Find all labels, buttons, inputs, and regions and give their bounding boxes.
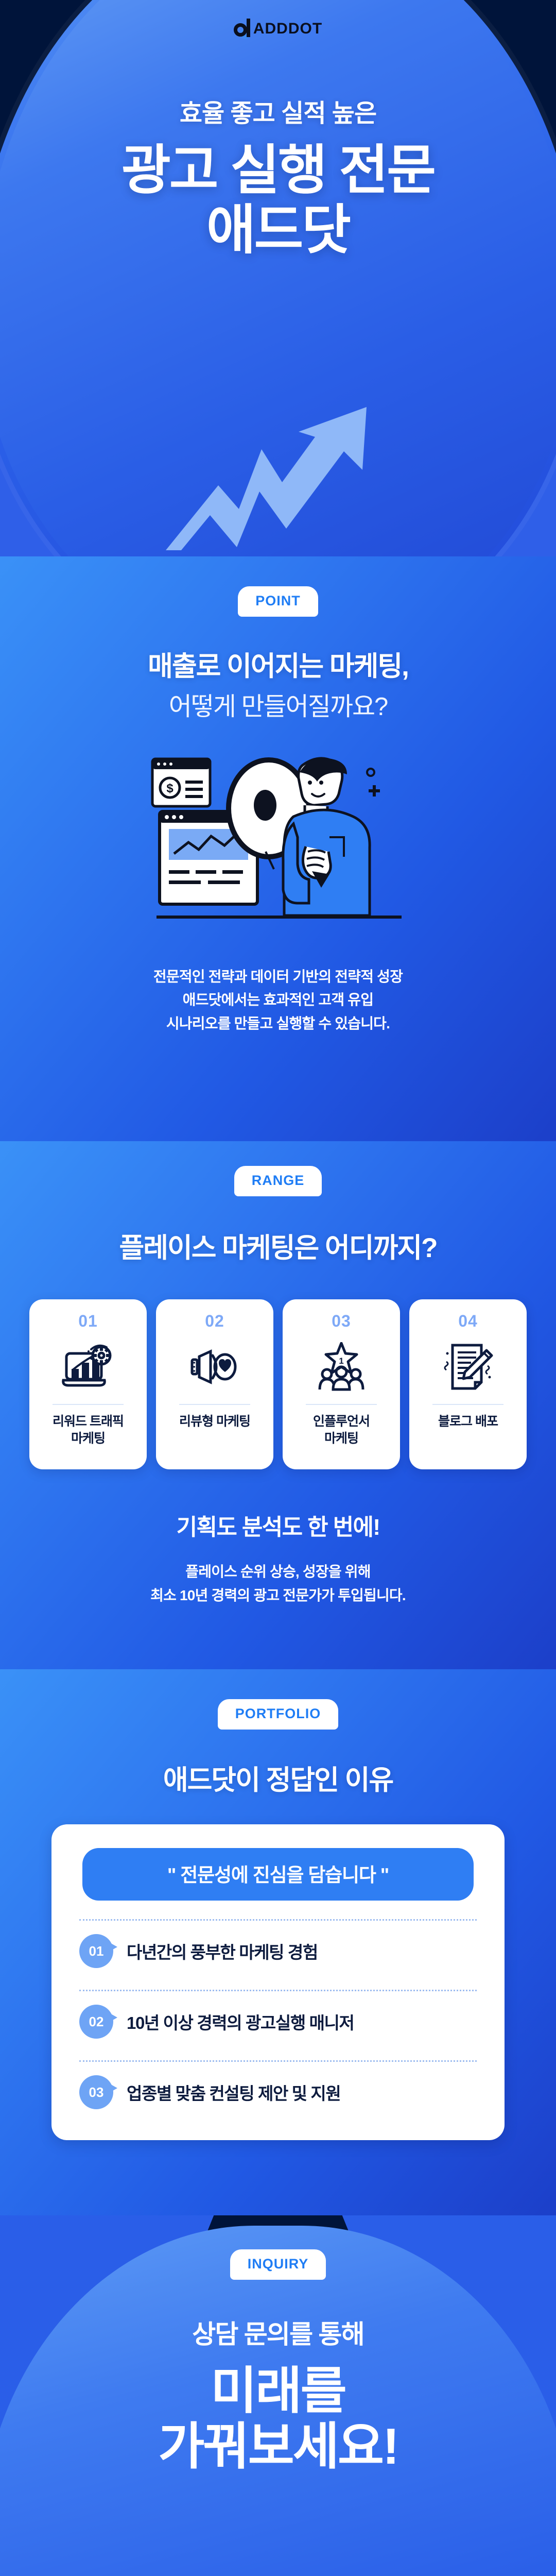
range-copy-body: 플레이스 순위 상승, 성장을 위해 최소 10년 경력의 광고 전문가가 투입… (0, 1560, 556, 1607)
brand-logo: ADDDOT (0, 0, 556, 31)
range-card[interactable]: 03 1 인플루언서마케팅 (283, 1299, 400, 1469)
portfolio-list: 01 다년간의 풍부한 마케팅 경험 02 10년 이상 경력의 광고실행 매니… (75, 1919, 481, 2112)
range-copy-line-2: 최소 10년 경력의 광고 전문가가 투입됩니다. (0, 1584, 556, 1607)
range-badge: RANGE (234, 1166, 322, 1196)
megaphone-heart-icon (188, 1339, 241, 1395)
list-item-number: 02 (79, 2005, 113, 2039)
people-star-icon: 1 (315, 1339, 368, 1395)
point-body-line-3: 시나리오를 만들고 실행할 수 있습니다. (0, 1012, 556, 1035)
landing-page: ADDDOT 효율 좋고 실적 높은 광고 실행 전문 애드닷 POINT 매출… (0, 0, 556, 2576)
person-with-magnifier-and-charts-icon: $ (139, 751, 417, 936)
card-label: 리뷰형 마케팅 (179, 1413, 250, 1430)
portfolio-badge: PORTFOLIO (218, 1699, 339, 1730)
inquiry-heading: 상담 문의를 통해 (0, 2314, 556, 2351)
point-body-line-2: 애드닷에서는 효과적인 고객 유입 (0, 988, 556, 1011)
card-divider (432, 1404, 503, 1405)
range-card[interactable]: 02 리뷰형 마케팅 (156, 1299, 273, 1469)
inquiry-badge: INQUIRY (230, 2249, 326, 2280)
point-subheading: 어떻게 만들어질까요? (0, 691, 556, 724)
range-heading: 플레이스 마케팅은 어디까지? (0, 1231, 556, 1265)
hero-title-line1: 광고 실행 전문 (0, 142, 556, 199)
card-number: 01 (78, 1312, 98, 1331)
range-copy-headline: 기획도 분석도 한 번에! (0, 1509, 556, 1541)
inquiry-cta-line1: 미래를 (0, 2364, 556, 2418)
range-card[interactable]: 01 (29, 1299, 147, 1469)
list-item-label: 다년간의 풍부한 마케팅 경험 (127, 1939, 318, 1963)
portfolio-section: PORTFOLIO 애드닷이 정답인 이유 " 전문성에 진심을 담습니다 " … (0, 1669, 556, 2215)
document-pencil-icon (441, 1339, 495, 1395)
range-copy-line-1: 플레이스 순위 상승, 성장을 위해 (0, 1560, 556, 1583)
card-number: 03 (332, 1312, 351, 1331)
list-item[interactable]: 02 10년 이상 경력의 광고실행 매니저 (75, 1991, 481, 2042)
card-divider (53, 1404, 124, 1405)
card-label: 블로그 배포 (438, 1413, 498, 1430)
range-card-list: 01 (0, 1299, 556, 1469)
list-item-number: 03 (79, 2075, 113, 2109)
card-label: 인플루언서마케팅 (313, 1413, 370, 1447)
hero-content: ADDDOT 효율 좋고 실적 높은 광고 실행 전문 애드닷 (0, 0, 556, 259)
list-item[interactable]: 01 다년간의 풍부한 마케팅 경험 (75, 1921, 481, 1971)
adddot-d-logo-icon (234, 19, 251, 39)
card-number: 04 (458, 1312, 478, 1331)
range-section: RANGE 플레이스 마케팅은 어디까지? 01 (0, 1141, 556, 1669)
point-badge: POINT (238, 586, 318, 617)
list-item-number: 01 (79, 1934, 113, 1968)
growth-arrow-chart-icon (161, 376, 397, 551)
brand-logo-text: ADDDOT (253, 20, 322, 38)
point-body: 전문적인 전략과 데이터 기반의 전략적 성장 애드닷에서는 효과적인 고객 유… (0, 965, 556, 1035)
inquiry-cta-line2: 가꿔보세요! (0, 2420, 556, 2473)
portfolio-quote: " 전문성에 진심을 담습니다 " (82, 1848, 474, 1901)
list-item[interactable]: 03 업종별 맞춤 컨설팅 제안 및 지원 (75, 2062, 481, 2112)
card-number: 02 (205, 1312, 224, 1331)
list-item-label: 업종별 맞춤 컨설팅 제안 및 지원 (127, 2080, 340, 2105)
point-body-line-1: 전문적인 전략과 데이터 기반의 전략적 성장 (0, 965, 556, 988)
point-heading: 매출로 이어지는 마케팅, (0, 650, 556, 684)
card-divider (306, 1404, 377, 1405)
point-illustration: $ (0, 751, 556, 936)
hero-section: ADDDOT 효율 좋고 실적 높은 광고 실행 전문 애드닷 (0, 0, 556, 556)
range-card[interactable]: 04 (409, 1299, 527, 1469)
hero-title-line2: 애드닷 (0, 202, 556, 259)
list-item-label: 10년 이상 경력의 광고실행 매니저 (127, 2009, 354, 2034)
svg-text:$: $ (166, 782, 173, 795)
point-section: POINT 매출로 이어지는 마케팅, 어떻게 만들어질까요? $ (0, 556, 556, 1141)
portfolio-card: " 전문성에 진심을 담습니다 " 01 다년간의 풍부한 마케팅 경험 02 … (51, 1824, 505, 2140)
hero-subtitle: 효율 좋고 실적 높은 (0, 93, 556, 129)
inquiry-content: INQUIRY 상담 문의를 통해 미래를 가꿔보세요! (0, 2215, 556, 2473)
card-label: 리워드 트래픽마케팅 (53, 1413, 124, 1447)
inquiry-section: INQUIRY 상담 문의를 통해 미래를 가꿔보세요! (0, 2215, 556, 2576)
laptop-bar-chart-gear-icon (61, 1339, 115, 1395)
svg-text:1: 1 (339, 1356, 343, 1366)
card-divider (179, 1404, 250, 1405)
portfolio-heading: 애드닷이 정답인 이유 (0, 1764, 556, 1798)
